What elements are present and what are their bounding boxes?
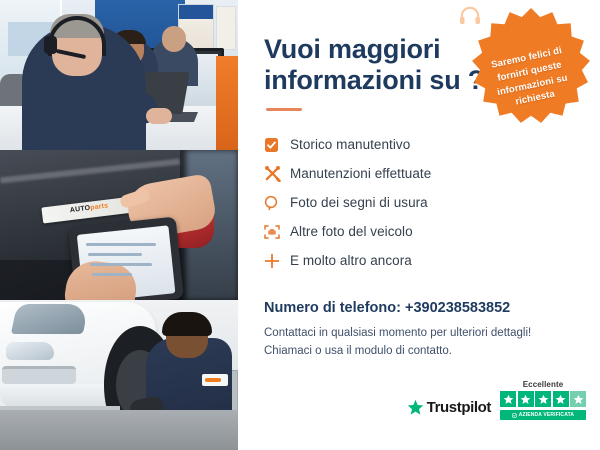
tools-cross-icon [264, 165, 290, 182]
photo-call-center [0, 0, 238, 150]
feature-item-manutenzioni: Manutenzioni effettuate [264, 160, 578, 187]
star-filled [518, 391, 534, 407]
star-rating [500, 391, 586, 407]
title-divider [266, 108, 302, 111]
trustpilot-widget[interactable]: Trustpilot Eccellente [407, 380, 586, 420]
photo-wheel-service [0, 300, 238, 450]
feature-label: Foto dei segni di usura [290, 195, 428, 210]
phone-line: Numero di telefono: +390238583852 [264, 300, 578, 316]
phone-label: Numero di telefono: [264, 300, 401, 316]
phone-number[interactable]: +390238583852 [405, 300, 510, 316]
feature-label: Storico manutentivo [290, 137, 410, 152]
headset-icon [459, 6, 481, 26]
feature-item-foto-usura: Foto dei segni di usura [264, 189, 578, 216]
page-title: Vuoi maggiori informazioni su ? [264, 34, 494, 95]
trustpilot-name: Trustpilot [427, 399, 491, 416]
plus-icon [264, 253, 290, 269]
feature-label: E molto altro ancora [290, 253, 412, 268]
feature-label: Altre foto del veicolo [290, 224, 413, 239]
content-panel: Vuoi maggiori informazioni su ? Saremo f… [238, 0, 600, 450]
contact-note: Contattaci in qualsiasi momento per ulte… [264, 325, 578, 361]
clipboard-check-icon [264, 137, 290, 153]
check-circle-icon [512, 413, 517, 418]
feature-item-altre-foto: Altre foto del veicolo [264, 218, 578, 245]
photo-label-application: AUTOparts [0, 150, 238, 300]
photo-strip: AUTOparts [0, 0, 238, 450]
trustpilot-logo: Trustpilot [407, 399, 491, 420]
verified-badge: AZIENDA VERIFICATA [500, 410, 586, 420]
contact-note-line-1: Contattaci in qualsiasi momento per ulte… [264, 325, 578, 343]
star-partial [570, 391, 586, 407]
magnifier-icon [264, 195, 290, 211]
contact-note-line-2: Chiamaci o usa il modulo di contatto. [264, 343, 578, 361]
star-filled [500, 391, 516, 407]
feature-item-altro: E molto altro ancora [264, 247, 578, 274]
feature-label: Manutenzioni effettuate [290, 166, 431, 181]
trustpilot-star-icon [407, 399, 424, 416]
star-filled [553, 391, 569, 407]
star-filled [535, 391, 551, 407]
rating-label: Eccellente [523, 380, 564, 389]
advertisement-panel: AUTOparts [0, 0, 600, 450]
promo-badge: Saremo felici di fornirti queste informa… [470, 6, 592, 128]
scan-frame-icon [264, 224, 290, 240]
trustpilot-rating: Eccellente [500, 380, 586, 420]
feature-list: Storico manutentivo Manutenzioni effettu… [264, 131, 578, 274]
verified-label: AZIENDA VERIFICATA [519, 412, 574, 418]
feature-item-storico: Storico manutentivo [264, 131, 578, 158]
